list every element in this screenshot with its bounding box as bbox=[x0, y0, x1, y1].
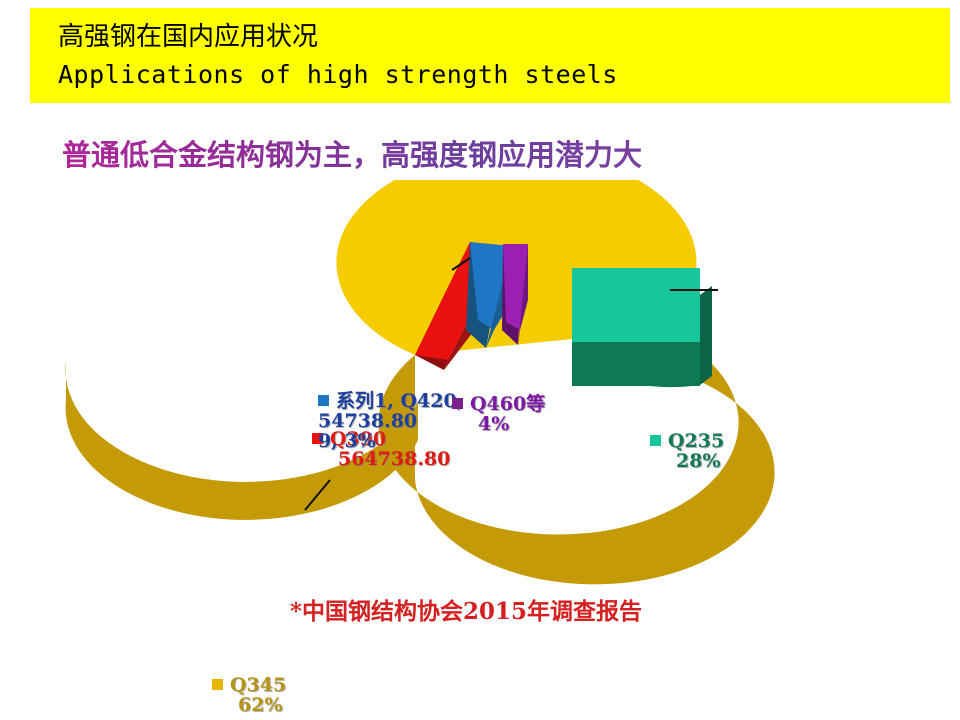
swatch-series1-icon bbox=[318, 395, 329, 406]
data-label-q235-name: Q235 bbox=[668, 430, 724, 452]
swatch-q460-icon bbox=[452, 398, 463, 409]
data-label-q345-percent: 62% bbox=[238, 696, 286, 716]
banner-title-en: Applications of high strength steels bbox=[58, 62, 618, 87]
banner-title-cn: 高强钢在国内应用状况 bbox=[58, 24, 318, 50]
data-label-q345: Q345 62% bbox=[212, 676, 286, 716]
data-label-q235: Q235 28% bbox=[650, 432, 724, 472]
data-label-q390-value: 564738.80 bbox=[338, 450, 450, 470]
pie-chart: Q235 28% Q345 62% Q390 564738.80 系列1, Q4… bbox=[0, 180, 960, 600]
data-label-series1-value: 54738.80 bbox=[318, 412, 463, 432]
swatch-q345-icon bbox=[212, 679, 223, 690]
data-label-series1-name: 系列1, Q420, bbox=[336, 390, 463, 412]
title-banner: 高强钢在国内应用状况 Applications of high strength… bbox=[30, 8, 950, 103]
data-label-q460-name: Q460等 bbox=[470, 393, 545, 415]
source-footnote: *中国钢结构协会2015年调查报告 bbox=[290, 592, 642, 626]
data-label-q460-percent: 4% bbox=[478, 415, 545, 435]
data-label-series1: 系列1, Q420, 54738.80 9, 3% bbox=[318, 392, 463, 452]
data-label-series1-percent: 9, 3% bbox=[318, 432, 463, 452]
pie-slice-q235[interactable] bbox=[572, 268, 712, 387]
data-label-q235-percent: 28% bbox=[676, 452, 724, 472]
pie-chart-svg bbox=[0, 180, 960, 600]
data-label-q345-name: Q345 bbox=[230, 674, 286, 696]
data-label-q460: Q460等 4% bbox=[452, 395, 545, 435]
swatch-q235-icon bbox=[650, 435, 661, 446]
slide-canvas: 高强钢在国内应用状况 Applications of high strength… bbox=[0, 0, 960, 720]
slide-subtitle: 普通低合金结构钢为主，高强度钢应用潜力大 bbox=[62, 132, 642, 174]
